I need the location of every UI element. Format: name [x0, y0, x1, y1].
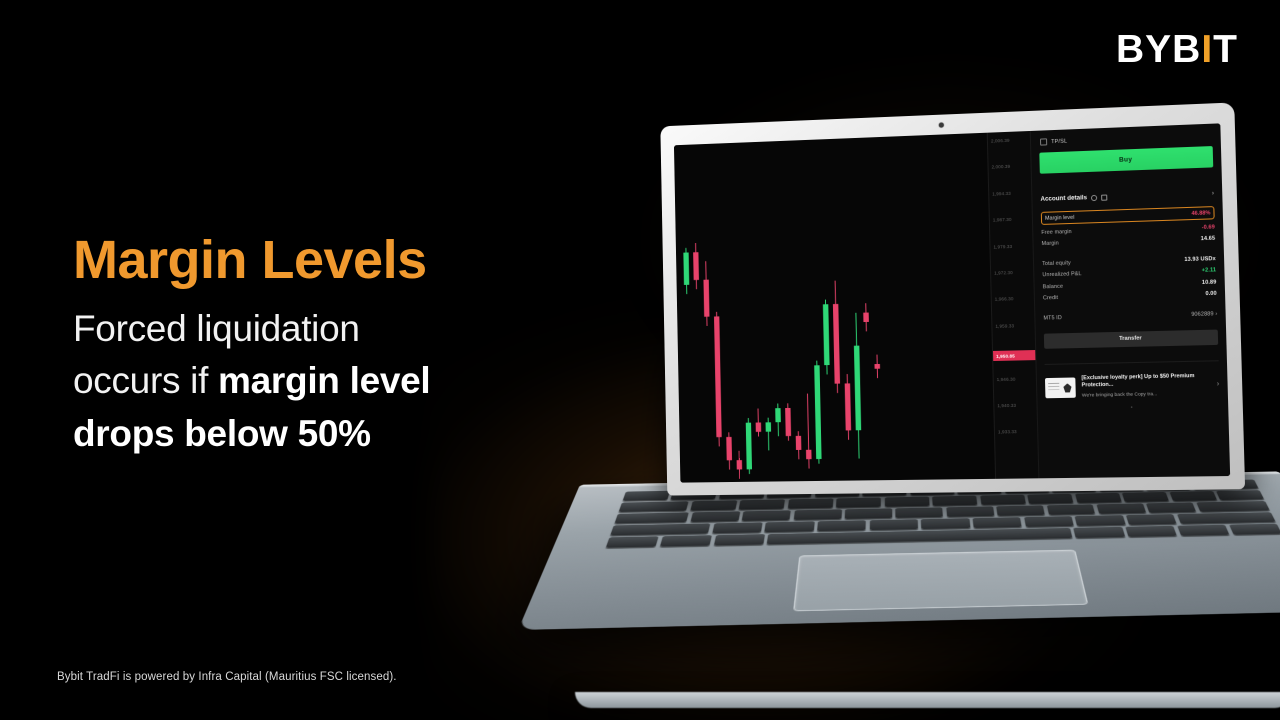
promo-chevron-right-icon[interactable]: › — [1217, 381, 1220, 388]
candle-body — [693, 252, 699, 280]
key — [1169, 491, 1216, 501]
account-rows-secondary: Total equity13.93 USDxUnrealized P&L+2.1… — [1042, 254, 1217, 304]
order-panel: TP/SL Buy Account details › Margin level… — [1030, 123, 1230, 478]
mt5-id-label: MT5 ID — [1043, 315, 1062, 322]
current-price-marker: 1,950.85 — [993, 350, 1035, 361]
account-detail-label: Credit — [1043, 295, 1058, 301]
account-details-header[interactable]: Account details › — [1040, 190, 1214, 203]
subheadline-line-2-plain: occurs if — [73, 360, 218, 401]
key — [836, 498, 881, 508]
transfer-button[interactable]: Transfer — [1044, 329, 1218, 348]
price-axis-tick: 1,972.30 — [991, 269, 1034, 297]
key — [713, 534, 764, 545]
logo-text-part2: T — [1213, 30, 1238, 69]
key — [788, 498, 834, 508]
margin-level-value: 46.88% — [1191, 210, 1210, 217]
subheadline-line-2: occurs if margin level — [73, 355, 593, 408]
key — [1216, 490, 1264, 500]
key — [1097, 503, 1146, 513]
key — [885, 497, 930, 507]
legal-footnote: Bybit TradFi is powered by Infra Capital… — [57, 671, 397, 683]
subheadline-line-3: drops below 50% — [73, 408, 593, 461]
candle-body — [823, 304, 830, 365]
tpsl-checkbox-row[interactable]: TP/SL — [1040, 132, 1212, 146]
margin-level-label: Margin level — [1045, 214, 1074, 221]
price-axis-tick: 1,933.33 — [995, 429, 1038, 456]
key — [896, 507, 943, 517]
candle-body — [863, 313, 869, 323]
candle-body — [833, 304, 840, 384]
key — [690, 500, 737, 510]
price-axis-ticks: 2,006.392,000.391,994.331,987.301,979.33… — [988, 137, 1038, 456]
key — [610, 524, 710, 536]
candle-body — [766, 422, 772, 431]
price-axis-tick: 2,006.39 — [988, 137, 1031, 165]
price-axis[interactable]: 2,006.392,000.391,994.331,987.301,979.33… — [987, 131, 1039, 479]
key — [793, 509, 841, 519]
subheadline-line-1: Forced liquidation — [73, 303, 593, 356]
key — [996, 505, 1044, 515]
promo-title: [Exclusive loyalty perk] Up to $50 Premi… — [1081, 372, 1210, 390]
account-detail-label: Unrealized P&L — [1042, 271, 1081, 278]
key — [1027, 494, 1073, 504]
promo-thumbnail-image — [1045, 377, 1076, 398]
logo-text-accent: I — [1201, 30, 1213, 69]
candle-body — [726, 437, 732, 460]
key — [606, 536, 659, 547]
key — [980, 495, 1026, 505]
key — [619, 501, 689, 512]
key — [1126, 514, 1177, 524]
price-axis-tick: 1,959.33 — [992, 323, 1035, 351]
promo-banner[interactable]: [Exclusive loyalty perk] Up to $50 Premi… — [1045, 360, 1220, 400]
key — [973, 517, 1022, 528]
account-detail-value: +2.11 — [1202, 268, 1216, 275]
key — [1196, 501, 1270, 512]
subheadline-line-3-bold: drops below 50% — [73, 413, 371, 454]
key — [1122, 492, 1169, 502]
price-axis-tick: 1,979.33 — [990, 243, 1033, 271]
mt5-id-value: 9062889 › — [1191, 311, 1217, 318]
candle-body — [683, 252, 689, 284]
candle-body — [874, 364, 880, 369]
key — [1146, 502, 1196, 512]
eye-icon[interactable] — [1091, 194, 1097, 200]
candle-body — [775, 408, 781, 422]
candle-body — [703, 280, 709, 317]
candle-body — [854, 346, 861, 431]
laptop-front-lip — [575, 692, 1280, 708]
trackpad[interactable] — [793, 550, 1088, 612]
account-detail-label: Free margin — [1041, 229, 1072, 236]
candle-body — [756, 422, 762, 431]
promo-text: [Exclusive loyalty perk] Up to $50 Premi… — [1081, 372, 1211, 399]
account-detail-value: 10.89 — [1202, 279, 1217, 286]
bybit-logo: BYBIT — [1116, 30, 1238, 69]
logo-text-part1: BYB — [1116, 30, 1201, 69]
key — [870, 519, 918, 530]
account-detail-value: 0.00 — [1205, 290, 1216, 296]
candle-body — [746, 423, 752, 470]
checkbox-icon[interactable] — [1040, 138, 1047, 145]
account-detail-label: Balance — [1043, 283, 1064, 290]
marketing-copy: Margin Levels Forced liquidation occurs … — [73, 232, 593, 460]
key — [1075, 493, 1122, 503]
key — [946, 506, 994, 516]
account-detail-value: -0.69 — [1202, 224, 1215, 231]
laptop-lid: 2,006.392,000.391,994.331,987.301,979.33… — [660, 102, 1245, 495]
price-axis-tick: 1,946.30 — [994, 376, 1037, 403]
key — [623, 491, 670, 501]
candle-body — [785, 408, 791, 436]
key — [921, 518, 970, 529]
price-axis-tick: 1,987.30 — [990, 216, 1033, 244]
key — [690, 511, 740, 521]
laptop-device: 2,006.392,000.391,994.331,987.301,979.33… — [545, 100, 1245, 710]
key — [712, 523, 762, 534]
price-axis-tick: 1,940.33 — [994, 402, 1037, 429]
key — [739, 499, 785, 509]
account-detail-label: Total equity — [1042, 260, 1071, 267]
chevron-right-icon[interactable]: › — [1212, 190, 1214, 196]
key — [817, 520, 866, 531]
account-detail-value: 14.65 — [1201, 236, 1216, 243]
promo-carousel-dots[interactable]: • — [1046, 403, 1220, 412]
page-title: Margin Levels — [73, 232, 593, 289]
key — [615, 512, 690, 523]
account-detail-label: Margin — [1042, 240, 1059, 247]
key — [660, 535, 712, 546]
candle-body — [737, 460, 743, 469]
price-axis-tick: 1,966.30 — [992, 296, 1035, 324]
key — [932, 496, 977, 506]
candlestick-series — [674, 133, 995, 483]
subheadline-line-2-bold: margin level — [218, 360, 430, 401]
key — [1047, 504, 1096, 514]
key — [1177, 512, 1276, 523]
price-chart[interactable] — [674, 133, 995, 483]
key — [742, 510, 791, 520]
buy-button[interactable]: Buy — [1039, 146, 1213, 174]
key — [1074, 527, 1125, 538]
candle-body — [714, 316, 722, 437]
account-details-title: Account details — [1040, 194, 1087, 203]
candle-body — [796, 436, 802, 450]
key — [1177, 525, 1229, 536]
candle-body — [814, 365, 821, 459]
laptop-base — [518, 471, 1280, 630]
price-axis-tick: 2,000.39 — [989, 163, 1032, 191]
key — [765, 521, 815, 532]
key — [1024, 516, 1074, 527]
info-icon[interactable] — [1101, 194, 1107, 200]
price-axis-tick: 1,994.33 — [989, 190, 1032, 218]
key — [1126, 526, 1178, 537]
webcam-icon — [939, 123, 944, 128]
promo-subtitle: We're bringing back the Copy tra... — [1082, 390, 1211, 400]
tpsl-label: TP/SL — [1051, 138, 1067, 145]
subheadline: Forced liquidation occurs if margin leve… — [73, 303, 593, 461]
account-detail-value: 13.93 USDx — [1184, 256, 1216, 263]
key — [1229, 524, 1280, 535]
key — [845, 508, 892, 518]
candle-body — [845, 383, 851, 430]
key — [1075, 515, 1125, 525]
laptop-screen: 2,006.392,000.391,994.331,987.301,979.33… — [674, 123, 1230, 482]
candle-body — [806, 450, 812, 459]
